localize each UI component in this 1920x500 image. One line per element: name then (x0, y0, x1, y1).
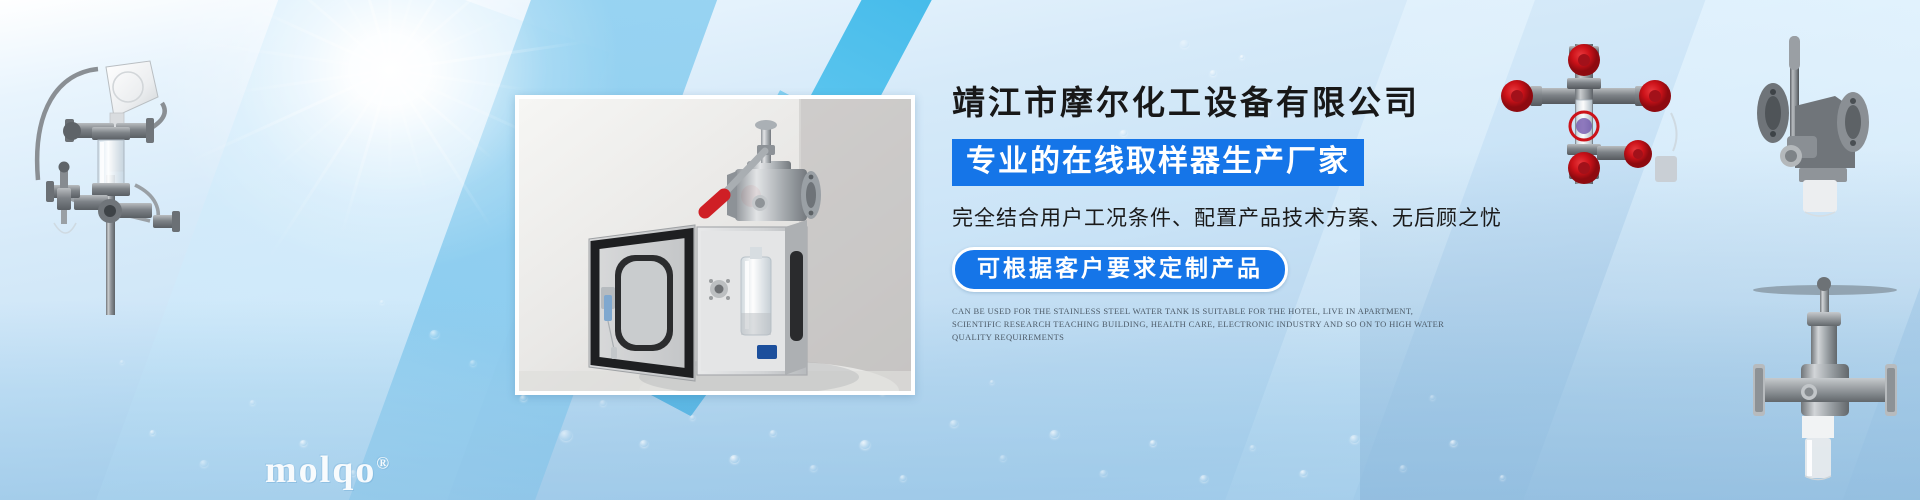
sunburst-ray-icon (304, 0, 391, 71)
left-product-illustration (10, 25, 210, 315)
right-product-lever-valve (1695, 18, 1920, 228)
sunburst-ray-icon (389, 0, 472, 71)
sunburst-ray-icon (390, 40, 586, 71)
right-product-cross-valve (1475, 38, 1705, 188)
tagline-main-badge: 专业的在线取样器生产厂家 (952, 139, 1364, 186)
sunburst-ray-icon (267, 69, 392, 261)
sunburst-ray-icon (389, 70, 392, 190)
water-droplet-icon (560, 430, 572, 441)
water-droplet-icon (1180, 40, 1189, 48)
sunburst-ray-icon (389, 70, 429, 198)
water-droplet-icon (1430, 395, 1435, 400)
sunburst-ray-icon (226, 69, 390, 95)
brand-watermark: molqo® (265, 448, 391, 492)
water-droplet-icon (900, 475, 906, 481)
center-product-photo (515, 95, 915, 395)
sunburst-ray-icon (389, 8, 522, 71)
custom-product-pill: 可根据客户要求定制产品 (952, 247, 1288, 291)
sunburst-ray-icon (340, 70, 392, 237)
tagline-subline: 完全结合用户工况条件、配置产品技术方案、无后顾之忧 (952, 202, 1652, 232)
water-droplet-icon (380, 300, 384, 304)
sunburst-ray-icon (261, 69, 391, 182)
sunburst-ray-icon (389, 69, 494, 230)
registered-mark-icon: ® (376, 453, 391, 472)
right-product-sampling-valve (1725, 268, 1920, 493)
water-droplet-icon (690, 415, 695, 420)
water-droplet-icon (600, 400, 606, 406)
sunburst-ray-icon (389, 0, 392, 70)
promo-banner: 靖江市摩尔化工设备有限公司 专业的在线取样器生产厂家 完全结合用户工况条件、配置… (0, 0, 1920, 500)
water-droplet-icon (1400, 465, 1406, 471)
water-droplet-icon (1000, 455, 1006, 461)
water-droplet-icon (770, 430, 776, 436)
watermark-text: molqo (265, 449, 376, 491)
water-droplet-icon (1150, 440, 1156, 446)
water-droplet-icon (150, 430, 155, 435)
water-droplet-icon (1210, 70, 1216, 76)
water-droplet-icon (1500, 475, 1505, 480)
water-droplet-icon (1250, 445, 1255, 450)
sunburst-ray-icon (227, 0, 391, 71)
english-description: CAN BE USED FOR THE STAINLESS STEEL WATE… (952, 305, 1452, 345)
sunburst-ray-icon (390, 69, 530, 92)
water-droplet-icon (120, 360, 124, 364)
sunburst-ray-icon (389, 0, 544, 71)
sunburst-ray-icon (389, 0, 450, 70)
water-droplet-icon (470, 360, 476, 366)
water-droplet-icon (1240, 55, 1244, 59)
water-droplet-icon (990, 380, 994, 384)
water-droplet-icon (250, 400, 255, 405)
sunburst-ray-icon (243, 2, 391, 72)
sunburst-ray-icon (329, 0, 391, 70)
sunburst-ray-icon (389, 69, 495, 161)
sunburst-ray-icon (187, 69, 390, 164)
